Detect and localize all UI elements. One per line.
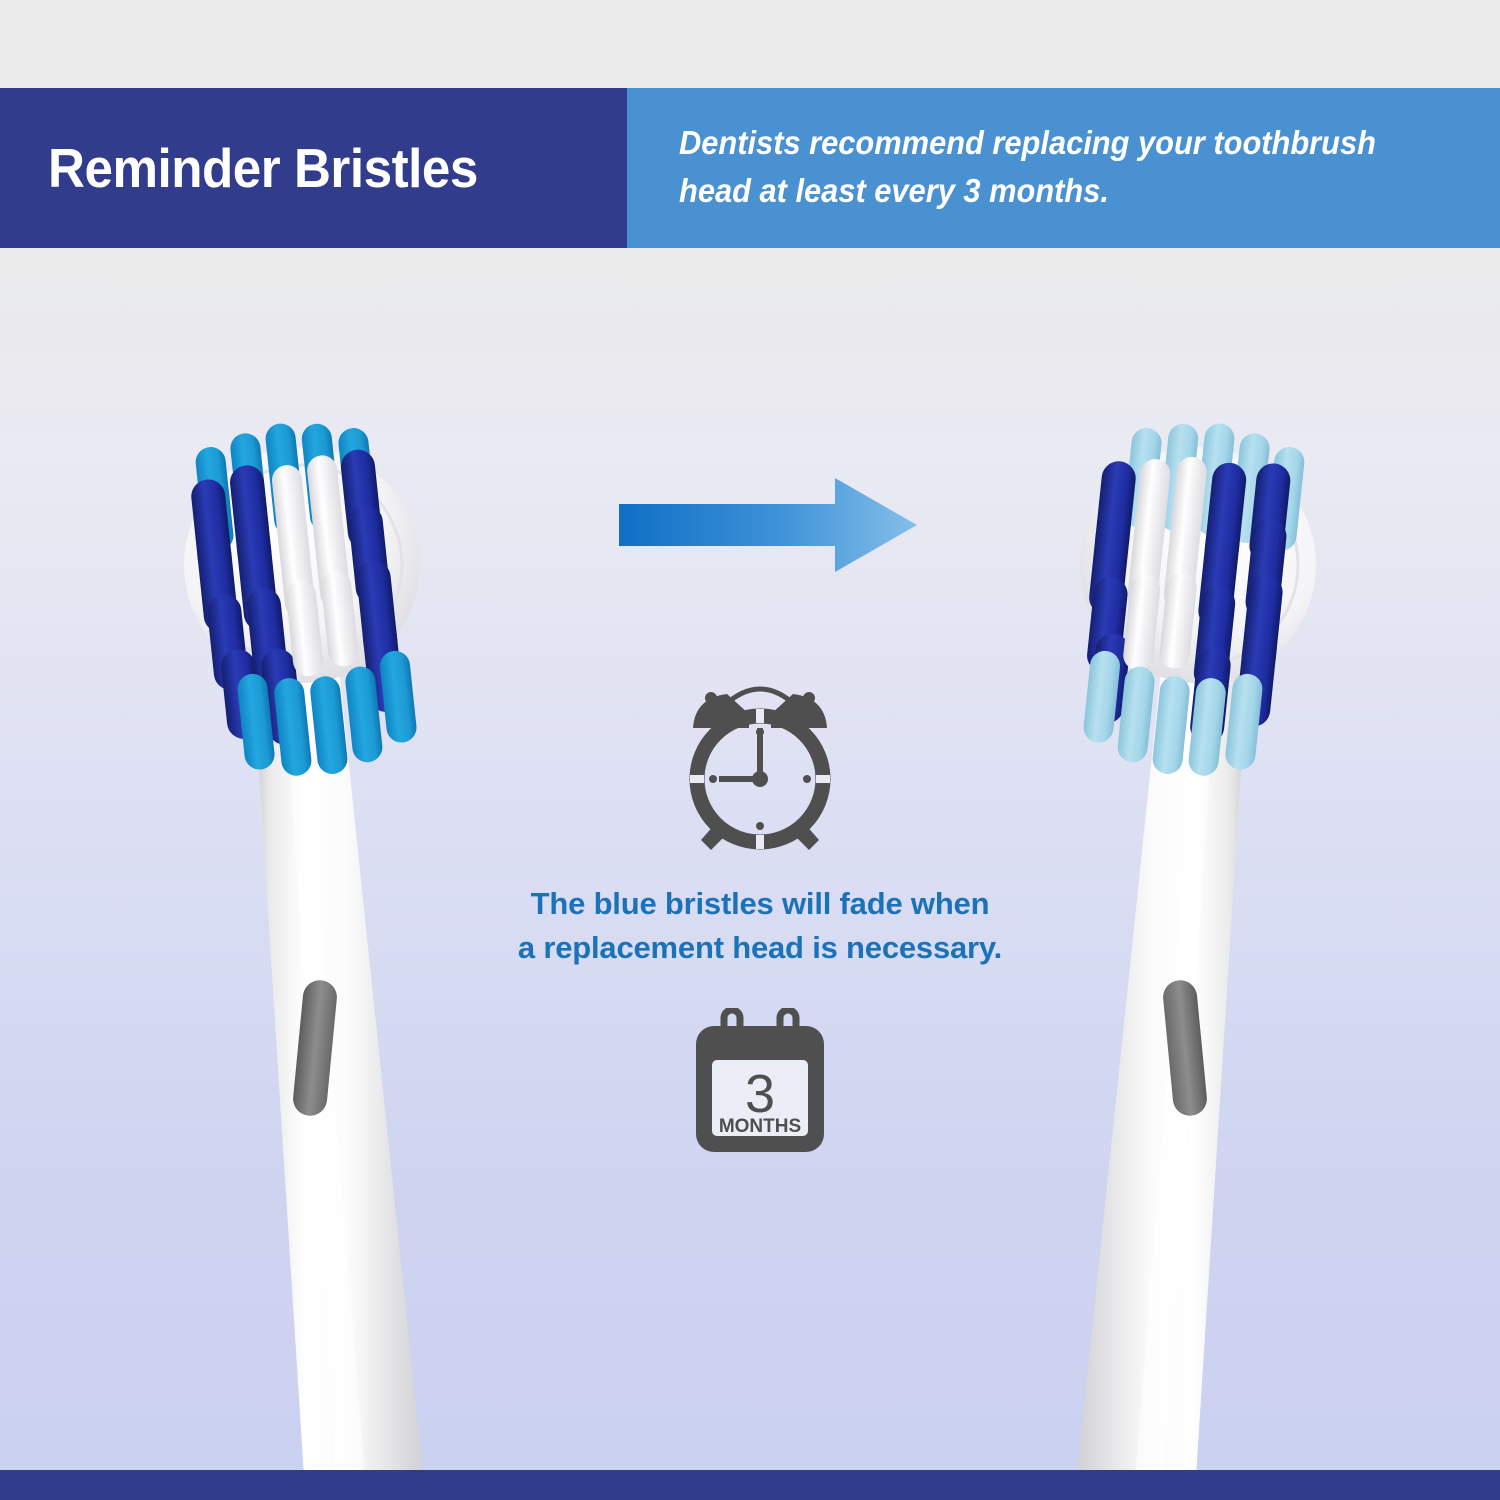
calendar-number-text: 3: [745, 1064, 775, 1124]
header-title-panel: Reminder Bristles: [0, 88, 627, 248]
right-arrow-icon: [595, 460, 925, 590]
fade-caption-line-1: The blue bristles will fade when: [518, 882, 1002, 926]
calendar-icon: 3 MONTHS: [684, 1008, 836, 1156]
infographic-canvas: Reminder Bristles Dentists recommend rep…: [0, 0, 1500, 1500]
calendar-unit-text: MONTHS: [719, 1116, 801, 1137]
header-banner: Reminder Bristles Dentists recommend rep…: [0, 88, 1500, 248]
header-subtitle: Dentists recommend replacing your toothb…: [679, 120, 1416, 215]
header-subtitle-panel: Dentists recommend replacing your toothb…: [627, 88, 1500, 248]
fade-caption: The blue bristles will fade when a repla…: [518, 882, 1002, 970]
center-content-column: The blue bristles will fade when a repla…: [500, 460, 1020, 1156]
fade-caption-line-2: a replacement head is necessary.: [518, 926, 1002, 970]
alarm-clock-icon: [667, 666, 853, 856]
page-title: Reminder Bristles: [48, 136, 478, 200]
footer-bar: [0, 1470, 1500, 1500]
